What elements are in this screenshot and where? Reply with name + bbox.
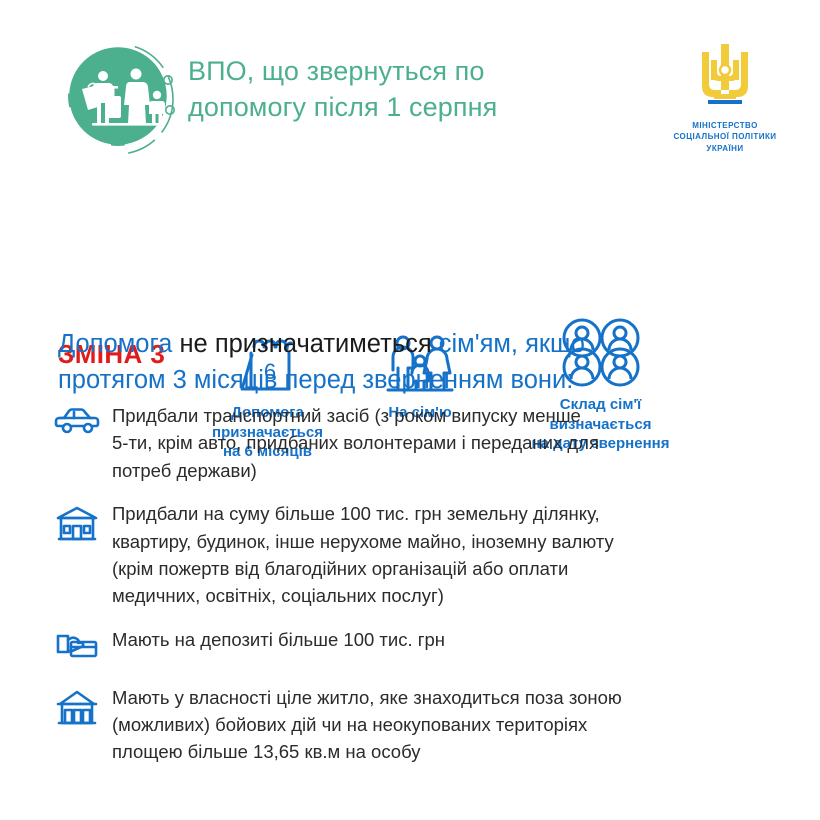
hand-card-icon [54, 626, 112, 662]
list-item-line: Мають у власності ціле житло, яке знаход… [112, 684, 794, 711]
house-bank-icon [54, 684, 112, 728]
list-item: Мають у власності ціле житло, яке знаход… [54, 684, 794, 766]
list-item-text: Мають на депозиті більше 100 тис. грн [112, 626, 794, 653]
list-item-line: 5-ти, крім авто, придбаних волонтерами і… [112, 429, 794, 456]
ukraine-tryzub-icon [686, 38, 764, 116]
lead-heading: Допомога не призначатиметься сім'ям, якщ… [58, 326, 778, 398]
header: ВПО, що звернуться по допомогу після 1 с… [0, 0, 820, 165]
list-item-line: площею більше 13,65 кв.м на особу [112, 738, 794, 765]
idp-family-luggage-icon [62, 40, 180, 158]
list-item: Придбали на суму більше 100 тис. грн зем… [54, 500, 794, 610]
ministry-logo: МІНІСТЕРСТВО СОЦІАЛЬНОЇ ПОЛІТИКИ УКРАЇНИ [655, 38, 795, 154]
car-icon [54, 402, 112, 438]
list-item-line: Придбали на суму більше 100 тис. грн зем… [112, 500, 794, 527]
lead-part-2: не призначатиметься [179, 330, 431, 358]
page-title-line-2: допомогу після 1 серпня [188, 90, 618, 126]
shop-house-icon [54, 500, 112, 544]
list-item-line: Придбали транспортний засіб (з роком вип… [112, 402, 794, 429]
list-item: Придбали транспортний засіб (з роком вип… [54, 402, 794, 484]
conditions-list: Придбали транспортний засіб (з роком вип… [54, 402, 794, 782]
list-item-line: (крім пожертв від благодійних організаці… [112, 555, 794, 582]
ministry-caption-line-1: МІНІСТЕРСТВО [655, 120, 795, 131]
list-item-line: квартиру, будинок, інше нерухоме майно, … [112, 528, 794, 555]
infographic-page: ВПО, що звернуться по допомогу після 1 с… [0, 0, 820, 820]
ministry-caption-line-3: УКРАЇНИ [655, 143, 795, 154]
list-item-line: (можливих) бойових дій чи на неокуповани… [112, 711, 794, 738]
ministry-caption: МІНІСТЕРСТВО СОЦІАЛЬНОЇ ПОЛІТИКИ УКРАЇНИ [655, 120, 795, 154]
list-item-line: Мають на депозиті більше 100 тис. грн [112, 626, 794, 653]
lead-line-2: протягом 3 місяців перед зверненням вони… [58, 362, 778, 398]
list-item: Мають на депозиті більше 100 тис. грн [54, 626, 794, 662]
lead-part-3: сім'ям, якщо [439, 330, 585, 358]
lead-part-1: Допомога [58, 330, 172, 358]
list-item-text: Мають у власності ціле житло, яке знаход… [112, 684, 794, 766]
page-title-line-1: ВПО, що звернуться по [188, 54, 618, 90]
page-title: ВПО, що звернуться по допомогу після 1 с… [188, 54, 618, 125]
ministry-caption-line-2: СОЦІАЛЬНОЇ ПОЛІТИКИ [655, 131, 795, 142]
feature-row: ЗМІНА 3 6 Допомога [0, 165, 820, 310]
list-item-text: Придбали транспортний засіб (з роком вип… [112, 402, 794, 484]
lead-line-1: Допомога не призначатиметься сім'ям, якщ… [58, 326, 778, 362]
list-item-line: медичних, освітніх, соціальних послуг) [112, 582, 794, 609]
list-item-line: потреб держави) [112, 457, 794, 484]
list-item-text: Придбали на суму більше 100 тис. грн зем… [112, 500, 794, 610]
